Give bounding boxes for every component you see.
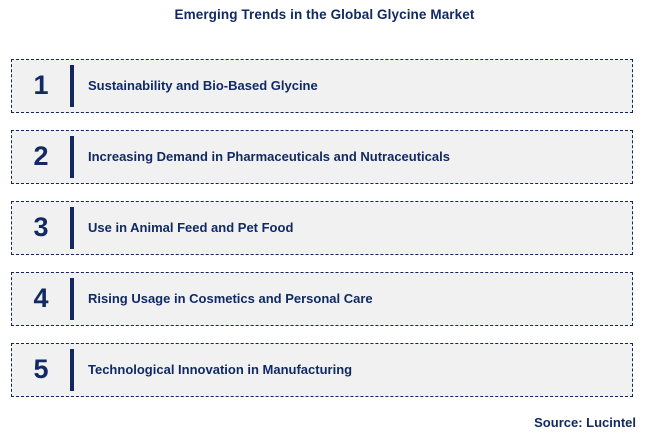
trend-number: 4	[12, 285, 70, 314]
trend-label: Use in Animal Feed and Pet Food	[74, 220, 632, 236]
list-item: 5 Technological Innovation in Manufactur…	[11, 343, 633, 397]
list-item: 3 Use in Animal Feed and Pet Food	[11, 201, 633, 255]
trend-number: 1	[12, 72, 70, 101]
trend-list: 1 Sustainability and Bio-Based Glycine 2…	[11, 59, 633, 414]
trend-number: 5	[12, 356, 70, 385]
list-item: 1 Sustainability and Bio-Based Glycine	[11, 59, 633, 113]
trend-label: Increasing Demand in Pharmaceuticals and…	[74, 149, 632, 165]
trend-number: 3	[12, 214, 70, 243]
trend-label: Rising Usage in Cosmetics and Personal C…	[74, 291, 632, 307]
trend-label: Sustainability and Bio-Based Glycine	[74, 78, 632, 94]
list-item: 4 Rising Usage in Cosmetics and Personal…	[11, 272, 633, 326]
trend-label: Technological Innovation in Manufacturin…	[74, 362, 632, 378]
list-item: 2 Increasing Demand in Pharmaceuticals a…	[11, 130, 633, 184]
trend-number: 2	[12, 143, 70, 172]
infographic-container: Emerging Trends in the Global Glycine Ma…	[0, 0, 649, 441]
source-attribution: Source: Lucintel	[0, 415, 636, 430]
page-title: Emerging Trends in the Global Glycine Ma…	[0, 7, 649, 22]
